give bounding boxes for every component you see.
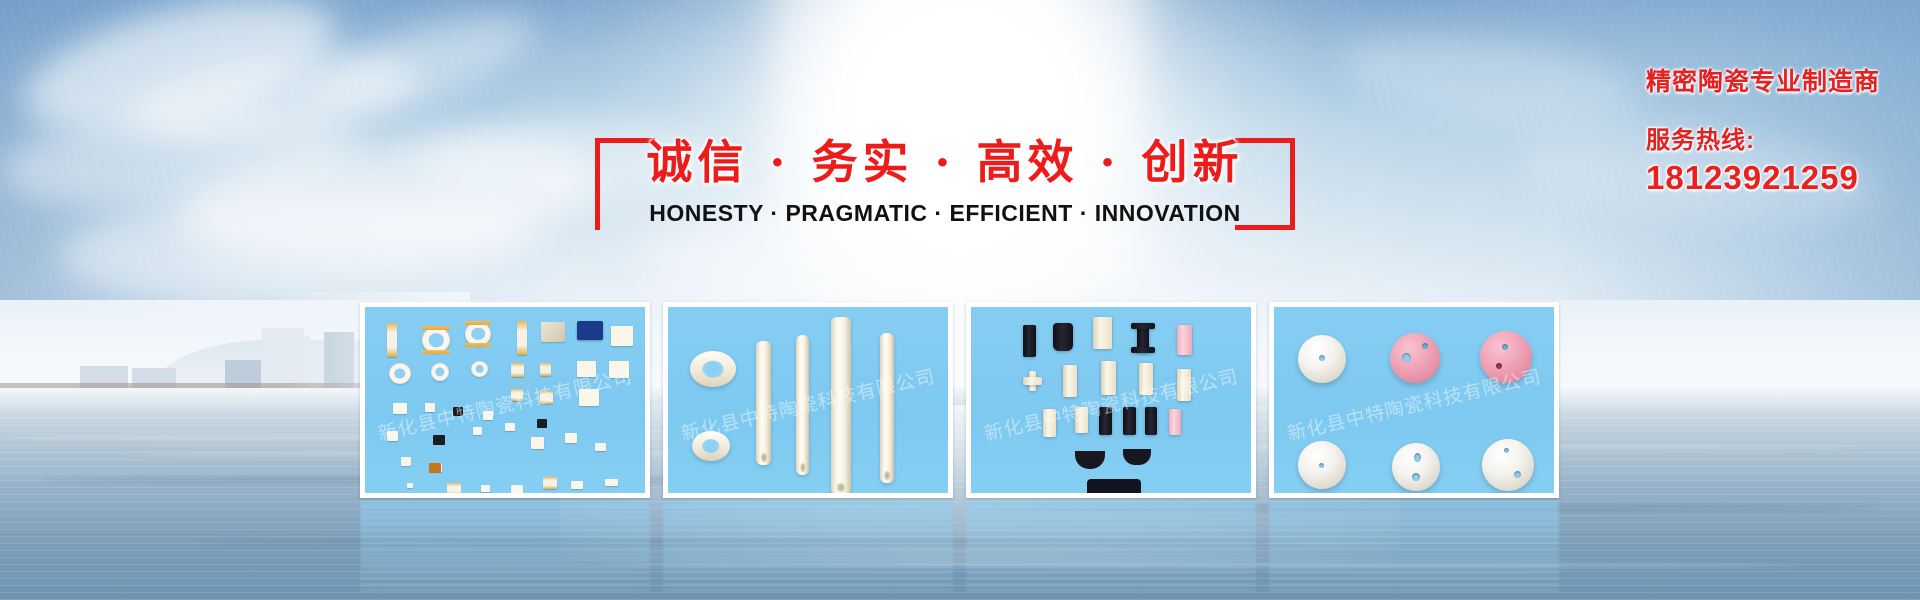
ceramic-part — [505, 423, 515, 431]
ceramic-part — [1177, 325, 1192, 355]
ceramic-part — [1093, 317, 1112, 349]
ceramic-disc — [1390, 333, 1440, 383]
disc-hole — [1402, 353, 1411, 362]
ceramic-part — [431, 363, 449, 381]
product-panel-ceramic-discs[interactable]: 新化县中特陶瓷科技有限公司 — [1269, 302, 1559, 498]
panel-reflection — [1269, 500, 1559, 592]
product-panel-ceramic-tubes-rings[interactable]: 新化县中特陶瓷科技有限公司 — [663, 302, 953, 498]
ceramic-disc — [1482, 439, 1534, 491]
ceramic-part — [565, 433, 577, 443]
ceramic-part — [1131, 323, 1155, 329]
ceramic-part — [407, 483, 413, 488]
ceramic-part — [595, 443, 606, 451]
ceramic-part — [393, 403, 407, 414]
ceramic-tube — [831, 317, 851, 493]
ceramic-disc — [1392, 443, 1440, 491]
ceramic-part — [537, 419, 547, 428]
ceramic-part — [401, 457, 411, 466]
ceramic-part — [429, 463, 441, 473]
ceramic-part — [1043, 409, 1056, 437]
product-image-1: 新化县中特陶瓷科技有限公司 — [365, 307, 645, 493]
ceramic-part — [577, 361, 596, 377]
slogan-chinese: 诚信 · 务实 · 高效 · 创新 — [595, 126, 1295, 192]
ceramic-part — [1099, 407, 1112, 435]
ceramic-part — [453, 407, 463, 416]
disc-hole — [1414, 453, 1421, 462]
disc-hole — [1504, 448, 1509, 453]
ceramic-ring — [692, 431, 730, 461]
ceramic-part — [422, 350, 450, 354]
ceramic-disc — [1298, 335, 1346, 383]
disc-hole — [1502, 344, 1508, 350]
ceramic-part — [465, 321, 491, 325]
hotline-label: 服务热线: — [1646, 120, 1880, 155]
panel-reflection — [663, 500, 953, 592]
company-tagline: 精密陶瓷专业制造商 — [1646, 62, 1880, 98]
ceramic-part — [540, 363, 551, 376]
disc-hole — [1514, 471, 1521, 478]
ceramic-part — [1053, 323, 1073, 351]
ceramic-part — [1023, 377, 1042, 385]
ceramic-part — [473, 427, 482, 435]
slogan-english: HONESTY · PRAGMATIC · EFFICIENT · INNOVA… — [595, 200, 1295, 227]
ceramic-part — [577, 321, 603, 340]
ceramic-part — [1139, 363, 1153, 395]
ceramic-part — [447, 483, 461, 493]
ceramic-part — [1169, 409, 1181, 435]
ceramic-part — [1123, 407, 1136, 435]
ceramic-part — [433, 435, 445, 445]
disc-hole — [1319, 463, 1324, 468]
ceramic-part — [1063, 365, 1077, 397]
ceramic-part — [387, 323, 397, 357]
ceramic-arc — [1075, 451, 1105, 469]
disc-hole — [1496, 363, 1502, 369]
panel-reflections — [360, 500, 1560, 592]
ceramic-tube — [796, 335, 809, 475]
ceramic-arc — [1123, 449, 1151, 465]
ceramic-part — [387, 431, 398, 441]
panel-reflection — [966, 500, 1256, 592]
disc-hole — [1412, 473, 1420, 481]
ceramic-part — [541, 322, 565, 342]
product-image-3: 新化县中特陶瓷科技有限公司 — [971, 307, 1251, 493]
disc-hole — [1422, 343, 1428, 349]
ceramic-part — [465, 343, 491, 347]
product-gallery: 新化县中特陶瓷科技有限公司 新化县中特陶瓷科技有限公司 — [360, 302, 1560, 498]
hotline-number[interactable]: 18123921259 — [1646, 159, 1880, 197]
panel-reflection — [360, 500, 650, 592]
ceramic-disc — [1480, 331, 1532, 383]
product-panel-smd-ceramic-chips[interactable]: 新化县中特陶瓷科技有限公司 — [360, 302, 650, 498]
ceramic-part — [605, 479, 618, 486]
ceramic-part — [609, 361, 629, 378]
ceramic-part — [1177, 369, 1191, 401]
ceramic-tube — [756, 341, 771, 465]
ceramic-part — [389, 363, 411, 384]
ceramic-part — [531, 437, 544, 449]
ceramic-part — [611, 326, 633, 346]
ceramic-part — [517, 321, 527, 355]
ceramic-part — [483, 411, 493, 420]
ceramic-part — [511, 363, 524, 377]
ceramic-part — [1075, 407, 1088, 433]
slogan-block: 诚信 · 务实 · 高效 · 创新 HONESTY · PRAGMATIC · … — [595, 138, 1295, 238]
product-panel-ceramic-blocks[interactable]: 新化县中特陶瓷科技有限公司 — [966, 302, 1256, 498]
ceramic-part — [511, 389, 523, 401]
disc-hole — [1319, 355, 1325, 361]
ceramic-part — [571, 481, 583, 489]
ceramic-base — [1087, 479, 1141, 493]
ceramic-tube — [880, 333, 894, 483]
product-image-4: 新化县中特陶瓷科技有限公司 — [1274, 307, 1554, 493]
contact-block: 精密陶瓷专业制造商 服务热线: 18123921259 — [1646, 62, 1880, 197]
ceramic-part — [1023, 325, 1036, 357]
ceramic-part — [540, 391, 553, 404]
ceramic-part — [1101, 361, 1116, 395]
ceramic-part — [422, 326, 450, 330]
ceramic-part — [511, 485, 523, 493]
ceramic-part — [471, 361, 488, 377]
ceramic-disc — [1298, 441, 1346, 489]
ceramic-part — [543, 477, 557, 489]
ceramic-part — [481, 485, 490, 492]
ceramic-part — [425, 403, 435, 412]
product-image-2: 新化县中特陶瓷科技有限公司 — [668, 307, 948, 493]
ceramic-part — [579, 389, 599, 406]
ceramic-part — [1131, 347, 1155, 353]
ceramic-part — [1145, 407, 1157, 435]
ceramic-ring — [690, 351, 736, 387]
